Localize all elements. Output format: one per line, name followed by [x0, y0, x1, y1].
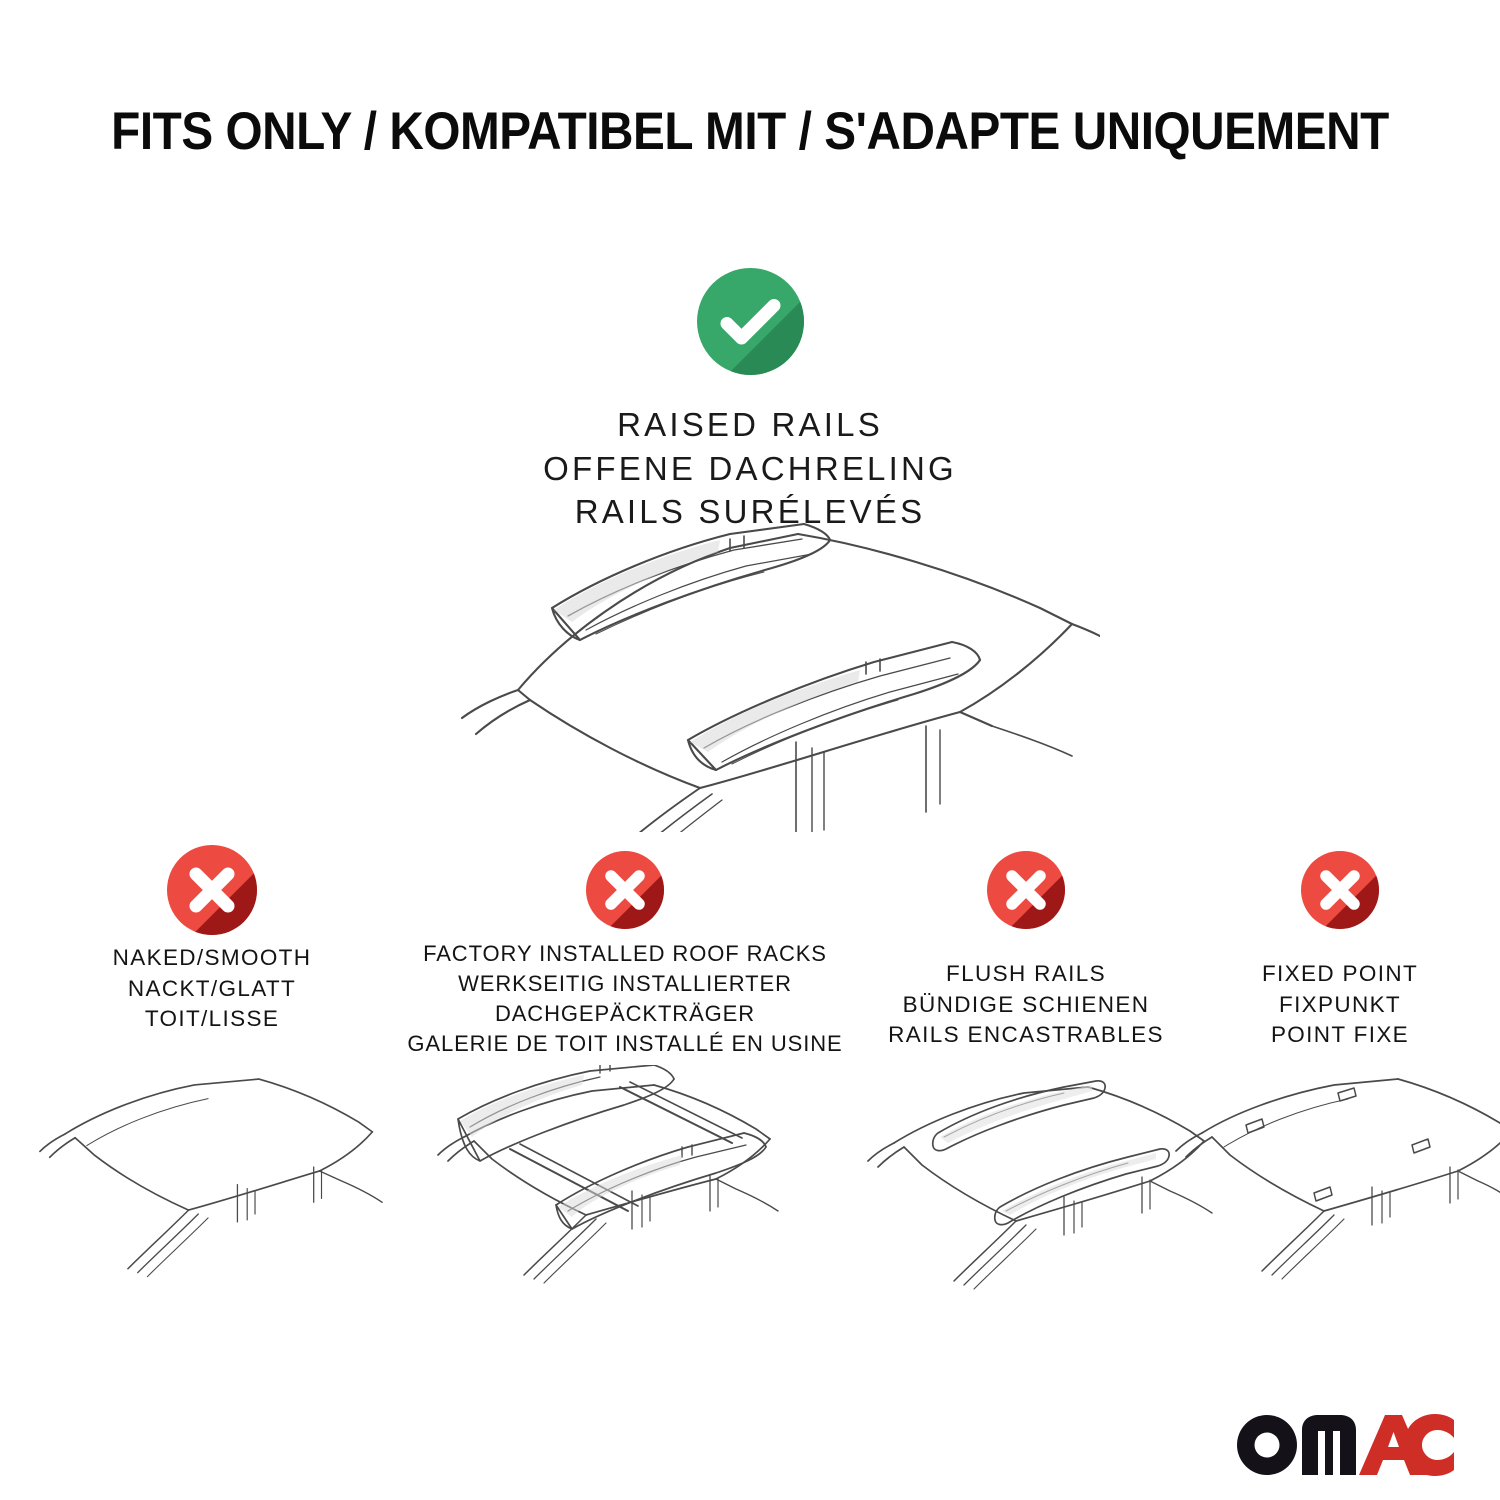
art-wrap-1 — [36, 1055, 388, 1290]
x-glyph — [586, 851, 664, 929]
label-fr: POINT FIXE — [1190, 1020, 1490, 1051]
incompatible-item-flush-rails: FLUSH RAILS BÜNDIGE SCHIENEN RAILS ENCAS… — [858, 845, 1194, 1302]
x-circle-icon — [987, 851, 1065, 929]
x-glyph — [987, 851, 1065, 929]
omac-logo-mark — [1236, 1414, 1454, 1476]
incompatible-labels-4: FIXED POINT FIXPUNKT POINT FIXE — [1190, 959, 1490, 1051]
label-de-2: DACHGEPÄCKTRÄGER — [390, 999, 860, 1029]
check-badge-wrap — [0, 268, 1500, 375]
incompatible-labels-3: FLUSH RAILS BÜNDIGE SCHIENEN RAILS ENCAS… — [858, 959, 1194, 1051]
art-wrap-3 — [858, 1067, 1194, 1302]
fitment-infographic: FITS ONLY / KOMPATIBEL MIT / S'ADAPTE UN… — [0, 0, 1500, 1500]
x-circle-icon — [1301, 851, 1379, 929]
incompatible-labels-2: FACTORY INSTALLED ROOF RACKS WERKSEITIG … — [390, 939, 860, 1059]
x-circle-icon — [586, 851, 664, 929]
incompatible-row: NAKED/SMOOTH NACKT/GLATT TOIT/LISSE — [0, 845, 1500, 1315]
label-en: FIXED POINT — [1190, 959, 1490, 990]
page-title: FITS ONLY / KOMPATIBEL MIT / S'ADAPTE UN… — [75, 104, 1425, 160]
check-glyph — [697, 268, 804, 375]
art-wrap-2 — [390, 1065, 860, 1300]
art-wrap-4 — [1190, 1067, 1490, 1302]
label-en: NAKED/SMOOTH — [36, 943, 388, 974]
x-badge-wrap-1 — [36, 845, 388, 945]
compatible-block: RAISED RAILS OFFENE DACHRELING RAILS SUR… — [0, 268, 1500, 534]
car-roof-naked-smooth-illustration — [36, 1055, 388, 1285]
check-circle-icon — [697, 268, 804, 375]
label-en: FLUSH RAILS — [858, 959, 1194, 990]
car-roof-flush-rails-illustration — [858, 1067, 1218, 1297]
incompatible-item-naked-smooth: NAKED/SMOOTH NACKT/GLATT TOIT/LISSE — [36, 845, 388, 1290]
x-circle-icon — [167, 845, 257, 935]
car-roof-fixed-point-illustration — [1172, 1067, 1500, 1297]
x-glyph — [1301, 851, 1379, 929]
x-glyph — [167, 845, 257, 935]
x-badge-wrap-2 — [390, 845, 860, 945]
label-fr: GALERIE DE TOIT INSTALLÉ EN USINE — [390, 1029, 860, 1059]
x-badge-wrap-4 — [1190, 845, 1490, 945]
label-fr: TOIT/LISSE — [36, 1004, 388, 1035]
incompatible-item-factory-roof-racks: FACTORY INSTALLED ROOF RACKS WERKSEITIG … — [390, 845, 860, 1300]
label-de: NACKT/GLATT — [36, 974, 388, 1005]
car-roof-factory-racks-illustration — [414, 1065, 814, 1295]
label-fr: RAILS ENCASTRABLES — [858, 1020, 1194, 1051]
compatible-label-de: OFFENE DACHRELING — [0, 447, 1500, 491]
incompatible-item-fixed-point: FIXED POINT FIXPUNKT POINT FIXE — [1190, 845, 1490, 1302]
x-badge-wrap-3 — [858, 845, 1194, 945]
incompatible-labels-1: NAKED/SMOOTH NACKT/GLATT TOIT/LISSE — [36, 943, 388, 1035]
label-de-1: WERKSEITIG INSTALLIERTER — [390, 969, 860, 999]
omac-logo — [1236, 1414, 1454, 1476]
car-roof-raised-rails-illustration — [400, 512, 1100, 832]
label-de: BÜNDIGE SCHIENEN — [858, 990, 1194, 1021]
compatible-label-en: RAISED RAILS — [0, 403, 1500, 447]
logo-letter-o-counter — [1255, 1433, 1280, 1458]
label-de: FIXPUNKT — [1190, 990, 1490, 1021]
logo-letter-m — [1302, 1415, 1356, 1475]
